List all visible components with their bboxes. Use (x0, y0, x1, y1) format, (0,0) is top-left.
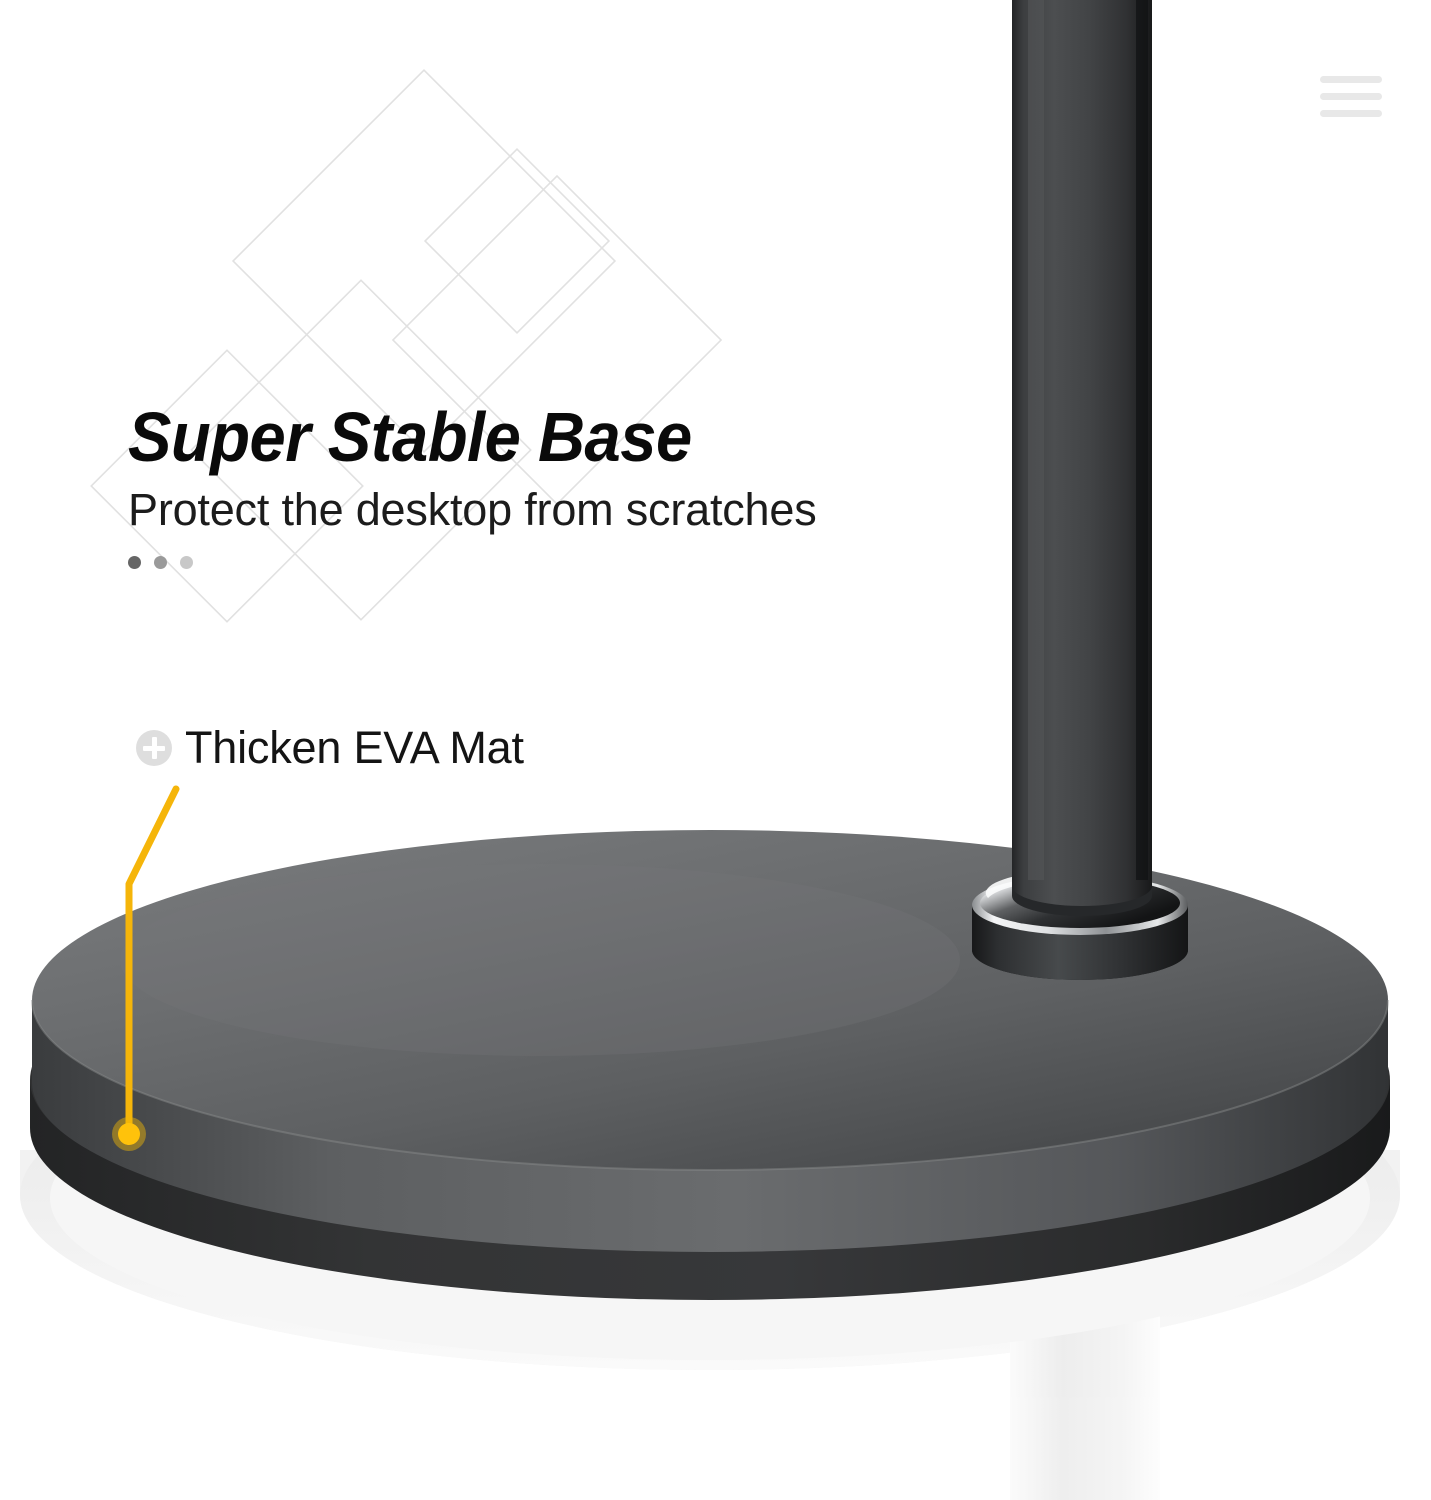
headline-block: Super Stable Base Protect the desktop fr… (128, 398, 908, 569)
support-pole (1012, 0, 1152, 906)
product-feature-image: Super Stable Base Protect the desktop fr… (0, 0, 1431, 1500)
dot-1 (128, 556, 141, 569)
plus-circle-icon (136, 730, 172, 766)
feature-callout: Thicken EVA Mat (136, 724, 524, 772)
progress-dots (128, 556, 908, 569)
callout-label: Thicken EVA Mat (185, 724, 524, 772)
page-title: Super Stable Base (128, 398, 853, 476)
page-subtitle: Protect the desktop from scratches (128, 484, 908, 536)
dot-2 (154, 556, 167, 569)
base-disc (32, 830, 1388, 1224)
dot-3 (180, 556, 193, 569)
